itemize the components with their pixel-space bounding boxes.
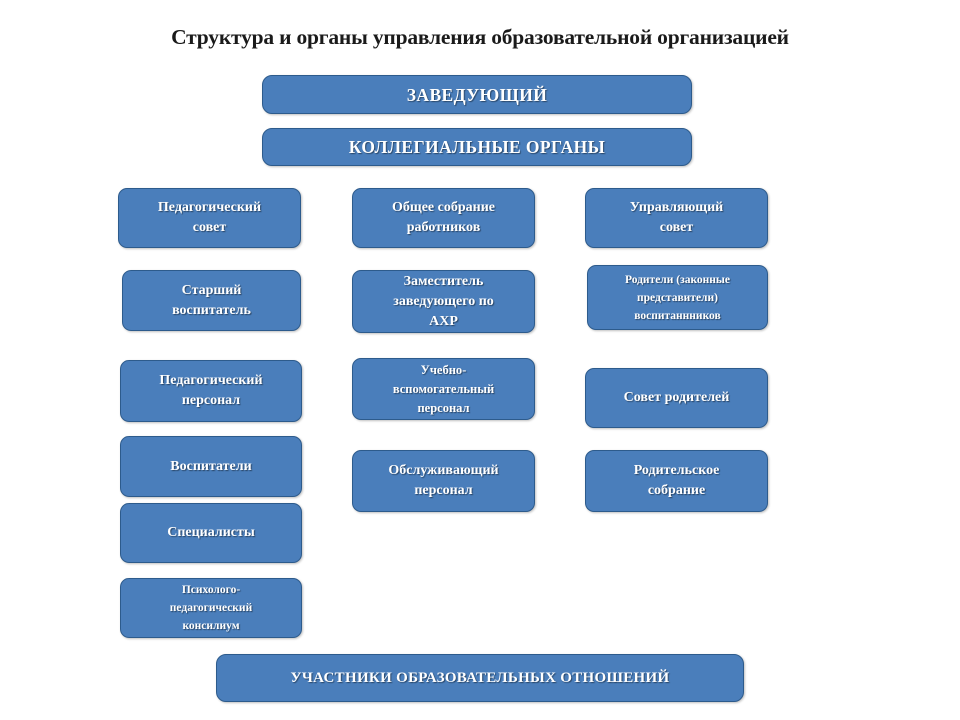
node-label: ЗАВЕДУЮЩИЙ — [269, 84, 685, 106]
node-label: УЧАСТНИКИ ОБРАЗОВАТЕЛЬНЫХ ОТНОШЕНИЙ — [223, 668, 737, 688]
node-roditelskoe-sobranie[interactable]: Родительское собрание — [585, 450, 768, 512]
node-vospitateli[interactable]: Воспитатели — [120, 436, 302, 497]
node-sovet-roditeley[interactable]: Совет родителей — [585, 368, 768, 428]
node-psihologo-pedagogicheskiy-konsilium[interactable]: Психолого- педагогический консилиум — [120, 578, 302, 638]
node-label: Педагогический персонал — [127, 371, 295, 411]
node-label: Специалисты — [127, 523, 295, 543]
node-starshiy-vospitatel[interactable]: Старший воспитатель — [122, 270, 301, 331]
node-label: Обслуживающий персонал — [359, 461, 528, 501]
node-spetsialisty[interactable]: Специалисты — [120, 503, 302, 563]
diagram-canvas: Структура и органы управления образовате… — [0, 0, 960, 720]
node-uchastniki-obrazovatelnyh-otnosheniy[interactable]: УЧАСТНИКИ ОБРАЗОВАТЕЛЬНЫХ ОТНОШЕНИЙ — [216, 654, 744, 702]
node-label: Заместитель заведующего по АХР — [359, 272, 528, 332]
node-label: Старший воспитатель — [129, 281, 294, 321]
page-title: Структура и органы управления образовате… — [0, 24, 960, 50]
node-zamestitel-zaveduyushchego-po-ahr[interactable]: Заместитель заведующего по АХР — [352, 270, 535, 333]
node-label: Педагогический совет — [125, 198, 294, 238]
node-roditeli-zakonnye-predstaviteli[interactable]: Родители (законные представители) воспит… — [587, 265, 768, 330]
node-label: Родители (законные представители) воспит… — [594, 271, 761, 325]
node-label: КОЛЛЕГИАЛЬНЫЕ ОРГАНЫ — [269, 136, 685, 158]
node-label: Общее собрание работников — [359, 198, 528, 238]
node-kollegialnye-organy[interactable]: КОЛЛЕГИАЛЬНЫЕ ОРГАНЫ — [262, 128, 692, 166]
node-label: Учебно- вспомогательный персонал — [359, 361, 528, 418]
node-pedagogicheskiy-personal[interactable]: Педагогический персонал — [120, 360, 302, 422]
node-upravlyayushchiy-sovet[interactable]: Управляющий совет — [585, 188, 768, 248]
node-label: Управляющий совет — [592, 198, 761, 238]
node-label: Воспитатели — [127, 457, 295, 477]
node-label: Психолого- педагогический консилиум — [127, 581, 295, 635]
node-pedagogicheskiy-sovet[interactable]: Педагогический совет — [118, 188, 301, 248]
node-label: Совет родителей — [592, 388, 761, 408]
node-uchebno-vspomogatelnyy-personal[interactable]: Учебно- вспомогательный персонал — [352, 358, 535, 420]
node-obsluzhivayushchiy-personal[interactable]: Обслуживающий персонал — [352, 450, 535, 512]
node-zaveduyushchiy[interactable]: ЗАВЕДУЮЩИЙ — [262, 75, 692, 114]
node-label: Родительское собрание — [592, 461, 761, 501]
node-obshchee-sobranie-rabotnikov[interactable]: Общее собрание работников — [352, 188, 535, 248]
